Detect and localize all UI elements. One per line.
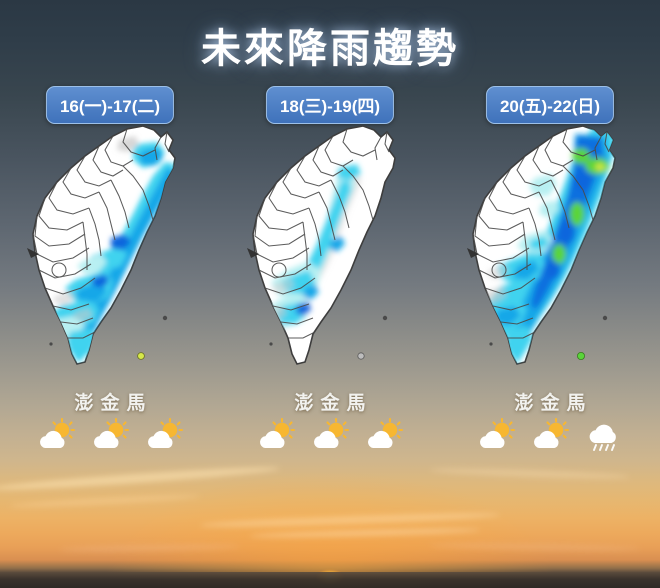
region-label-2: 澎金馬: [220, 388, 440, 415]
sea-horizon-band: [0, 572, 660, 588]
page-title: 未來降雨趨勢: [0, 16, 660, 74]
rain-cloud-icon: [583, 418, 625, 452]
partly-cloudy-icon: [363, 418, 405, 452]
offshore-islet: [49, 342, 52, 345]
taiwan-map-svg-1: [15, 120, 205, 370]
weather-icon-row-2: [220, 418, 440, 452]
offshore-islet: [603, 316, 607, 320]
partly-cloudy-icon: [35, 418, 77, 452]
partly-cloudy-icon: [475, 418, 517, 452]
forecast-panel-1: 16(一)-17(二): [0, 78, 220, 478]
taiwan-rain-map-2: [220, 120, 440, 372]
partly-cloudy-icon: [89, 418, 131, 452]
partly-cloudy-icon: [309, 418, 351, 452]
taiwan-map-svg-2: [235, 120, 425, 370]
forecast-panels: 16(一)-17(二): [0, 78, 660, 478]
offshore-islet: [269, 342, 272, 345]
date-badge-3[interactable]: 20(五)-22(日): [486, 86, 614, 124]
region-label-3: 澎金馬: [440, 388, 660, 415]
taiwan-rain-map-1: [0, 120, 220, 372]
date-badge-1[interactable]: 16(一)-17(二): [46, 86, 174, 124]
offshore-islet: [138, 353, 145, 360]
offshore-islet: [163, 316, 167, 320]
date-badge-2[interactable]: 18(三)-19(四): [266, 86, 394, 124]
forecast-panel-2: 18(三)-19(四): [220, 78, 440, 478]
weather-icon-row-3: [440, 418, 660, 452]
weather-forecast-graphic: 未來降雨趨勢 16(一)-17(二): [0, 0, 660, 588]
partly-cloudy-icon: [143, 418, 185, 452]
forecast-panel-3: 20(五)-22(日): [440, 78, 660, 478]
offshore-islet: [358, 353, 364, 359]
partly-cloudy-icon: [255, 418, 297, 452]
taiwan-rain-map-3: [440, 120, 660, 372]
partly-cloudy-icon: [529, 418, 571, 452]
taiwan-map-svg-3: [455, 120, 645, 370]
offshore-islet: [489, 342, 492, 345]
offshore-islet: [383, 316, 387, 320]
region-label-1: 澎金馬: [0, 388, 220, 415]
offshore-islet: [577, 352, 584, 359]
weather-icon-row-1: [0, 418, 220, 452]
